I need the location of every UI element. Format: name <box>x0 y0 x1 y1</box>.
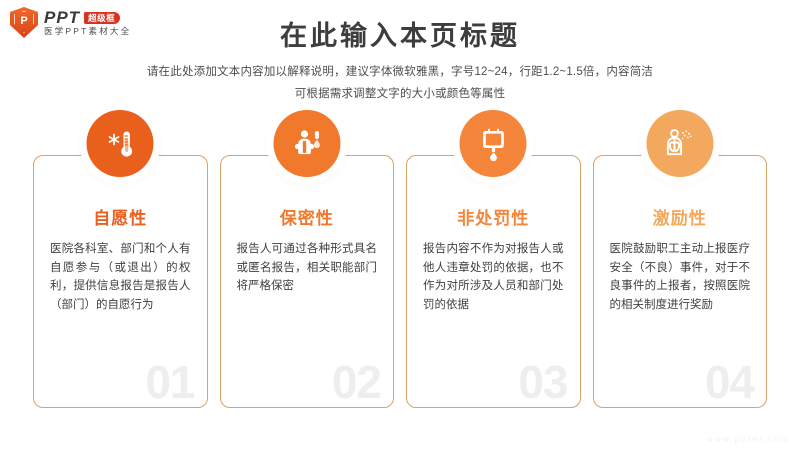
footer-watermark: www.ppter.com <box>706 434 790 444</box>
iv-drip-bag-icon <box>476 127 510 161</box>
card-number-2: 02 <box>332 359 381 405</box>
card-number-1: 01 <box>145 359 194 405</box>
feature-card-3[interactable]: 非处罚性 报告内容不作为对报告人或他人违章处罚的依据，也不作为对所涉及人员和部门… <box>406 155 581 408</box>
feature-card-2[interactable]: 保密性 报告人可通过各种形式具名或匿名报告，相关职能部门将严格保密 02 <box>220 155 395 408</box>
icon-circle-3 <box>460 110 527 177</box>
card-body-4: 医院鼓励职工主动上报医疗安全（不良）事件，对于不良事件的上报者，按照医院的相关制… <box>610 240 751 315</box>
icon-circle-1 <box>87 110 154 177</box>
thermometer-snowflake-icon <box>103 127 137 161</box>
card-body-1: 医院各科室、部门和个人有自愿参与（或退出）的权利，提供信息报告是报告人（部门）的… <box>50 240 191 315</box>
patient-person-icon <box>290 127 324 161</box>
card-title-1: 自愿性 <box>34 204 207 229</box>
card-body-3: 报告内容不作为对报告人或他人违章处罚的依据，也不作为对所涉及人员和部门处罚的依据 <box>423 240 564 315</box>
card-title-2: 保密性 <box>221 204 394 229</box>
slide-canvas: P PPT 超级框 医学PPT素材大全 在此输入本页标题 请在此处添加文本内容加… <box>0 0 800 450</box>
icon-circle-4 <box>646 110 713 177</box>
card-number-3: 03 <box>518 359 567 405</box>
card-body-2: 报告人可通过各种形式具名或匿名报告，相关职能部门将严格保密 <box>237 240 378 296</box>
feature-card-row: 自愿性 医院各科室、部门和个人有自愿参与（或退出）的权利，提供信息报告是报告人（… <box>33 155 767 408</box>
icon-circle-2 <box>273 110 340 177</box>
lungs-respiratory-icon <box>662 126 698 162</box>
card-title-3: 非处罚性 <box>407 204 580 229</box>
page-subtitle-line1: 请在此处添加文本内容加以解释说明，建议字体微软雅黑，字号12~24，行距1.2~… <box>0 63 800 79</box>
page-subtitle-line2: 可根据需求调整文字的大小或颜色等属性 <box>0 85 800 101</box>
feature-card-1[interactable]: 自愿性 医院各科室、部门和个人有自愿参与（或退出）的权利，提供信息报告是报告人（… <box>33 155 208 408</box>
feature-card-4[interactable]: 激励性 医院鼓励职工主动上报医疗安全（不良）事件，对于不良事件的上报者，按照医院… <box>593 155 768 408</box>
card-title-4: 激励性 <box>594 204 767 229</box>
card-number-4: 04 <box>705 359 754 405</box>
page-title: 在此输入本页标题 <box>0 14 800 53</box>
